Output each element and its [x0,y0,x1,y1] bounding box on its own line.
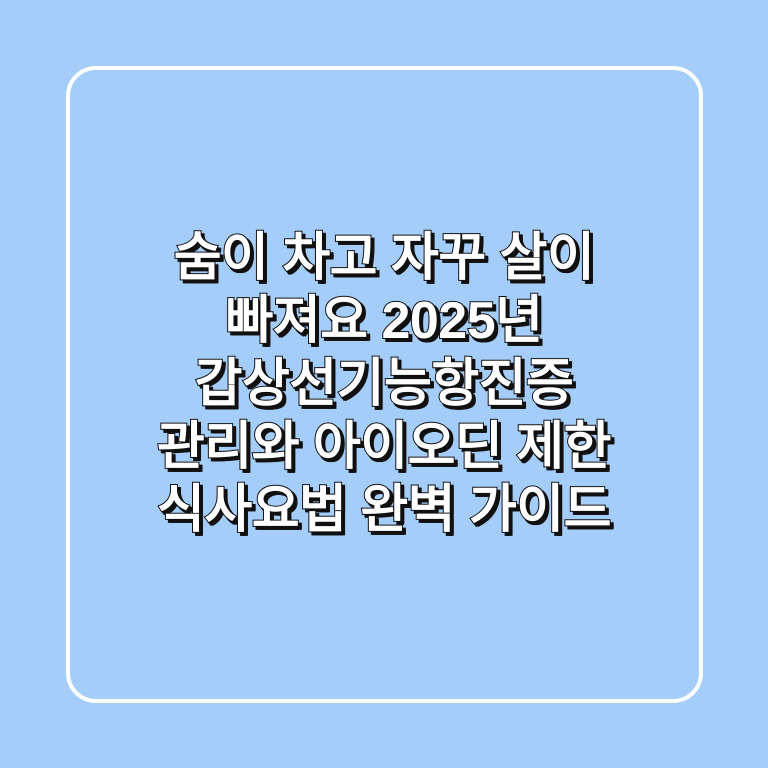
title-line-2: 빠져요 2025년 [56,290,712,353]
title-line-4: 관리와 아이오딘 제한 [56,416,712,479]
title-line-1: 숨이 차고 자꾸 살이 [56,227,712,290]
title-block: 숨이 차고 자꾸 살이 빠져요 2025년 갑상선기능항진증 관리와 아이오딘 … [0,0,768,768]
thumbnail-canvas: 숨이 차고 자꾸 살이 빠져요 2025년 갑상선기능항진증 관리와 아이오딘 … [0,0,768,768]
title-line-3: 갑상선기능항진증 [56,353,712,416]
title-line-5: 식사요법 완벽 가이드 [56,479,712,542]
